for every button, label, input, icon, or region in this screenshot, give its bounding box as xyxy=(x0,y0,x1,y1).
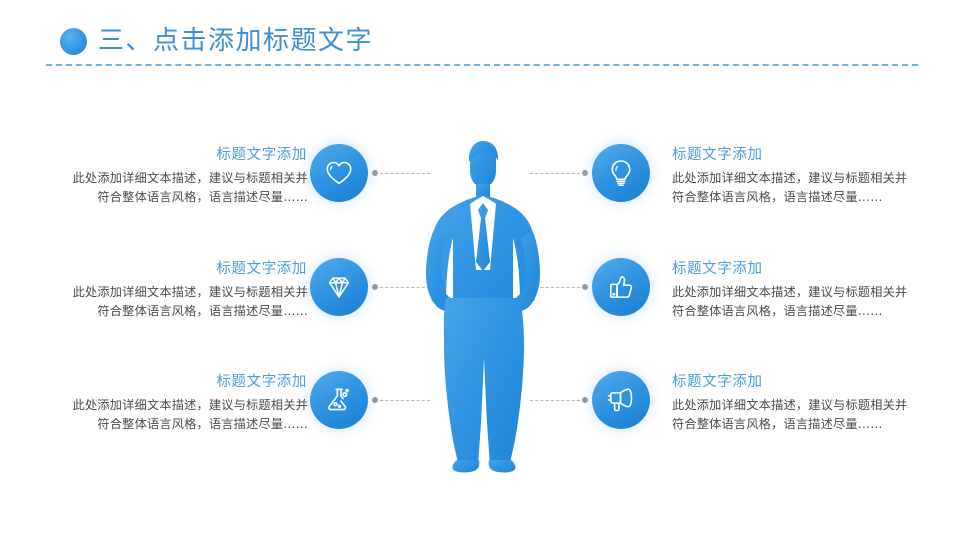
text-block-thumbs-up: 标题文字添加 此处添加详细文本描述，建议与标题相关并符合整体语言风格，语言描述尽… xyxy=(672,258,918,320)
icon-circle-diamond[interactable] xyxy=(310,258,368,316)
text-block-lightbulb: 标题文字添加 此处添加详细文本描述，建议与标题相关并符合整体语言风格，语言描述尽… xyxy=(672,144,918,206)
connector-dot xyxy=(372,284,378,290)
connector-dot xyxy=(582,397,588,403)
item-title: 标题文字添加 xyxy=(62,371,308,393)
item-description: 此处添加详细文本描述，建议与标题相关并符合整体语言风格，语言描述尽量…… xyxy=(62,169,308,206)
text-block-diamond: 标题文字添加 此处添加详细文本描述，建议与标题相关并符合整体语言风格，语言描述尽… xyxy=(62,258,308,320)
slide-header: 三、点击添加标题文字 xyxy=(0,0,960,72)
item-description: 此处添加详细文本描述，建议与标题相关并符合整体语言风格，语言描述尽量…… xyxy=(62,396,308,433)
flask-icon xyxy=(324,385,354,415)
text-block-flask: 标题文字添加 此处添加详细文本描述，建议与标题相关并符合整体语言风格，语言描述尽… xyxy=(62,371,308,433)
connector-dot xyxy=(372,170,378,176)
connector-dot xyxy=(372,397,378,403)
item-title: 标题文字添加 xyxy=(672,258,918,280)
businessman-silhouette xyxy=(398,140,568,475)
lightbulb-icon xyxy=(606,158,636,188)
icon-circle-flask[interactable] xyxy=(310,371,368,429)
filled-circle-icon xyxy=(60,28,87,55)
connector-dot xyxy=(582,284,588,290)
item-description: 此处添加详细文本描述，建议与标题相关并符合整体语言风格，语言描述尽量…… xyxy=(672,283,918,320)
megaphone-icon xyxy=(606,385,636,415)
item-title: 标题文字添加 xyxy=(62,144,308,166)
icon-circle-lightbulb[interactable] xyxy=(592,144,650,202)
item-title: 标题文字添加 xyxy=(62,258,308,280)
page-title: 三、点击添加标题文字 xyxy=(98,22,373,60)
icon-circle-thumbs-up[interactable] xyxy=(592,258,650,316)
heart-icon xyxy=(324,158,354,188)
connector-dot xyxy=(582,170,588,176)
item-title: 标题文字添加 xyxy=(672,371,918,393)
item-description: 此处添加详细文本描述，建议与标题相关并符合整体语言风格，语言描述尽量…… xyxy=(672,169,918,206)
item-description: 此处添加详细文本描述，建议与标题相关并符合整体语言风格，语言描述尽量…… xyxy=(672,396,918,433)
item-title: 标题文字添加 xyxy=(672,144,918,166)
icon-circle-megaphone[interactable] xyxy=(592,371,650,429)
item-description: 此处添加详细文本描述，建议与标题相关并符合整体语言风格，语言描述尽量…… xyxy=(62,283,308,320)
diamond-icon xyxy=(324,272,354,302)
text-block-megaphone: 标题文字添加 此处添加详细文本描述，建议与标题相关并符合整体语言风格，语言描述尽… xyxy=(672,371,918,433)
text-block-heart: 标题文字添加 此处添加详细文本描述，建议与标题相关并符合整体语言风格，语言描述尽… xyxy=(62,144,308,206)
header-divider xyxy=(46,64,918,66)
icon-circle-heart[interactable] xyxy=(310,144,368,202)
thumbs-up-icon xyxy=(606,272,636,302)
